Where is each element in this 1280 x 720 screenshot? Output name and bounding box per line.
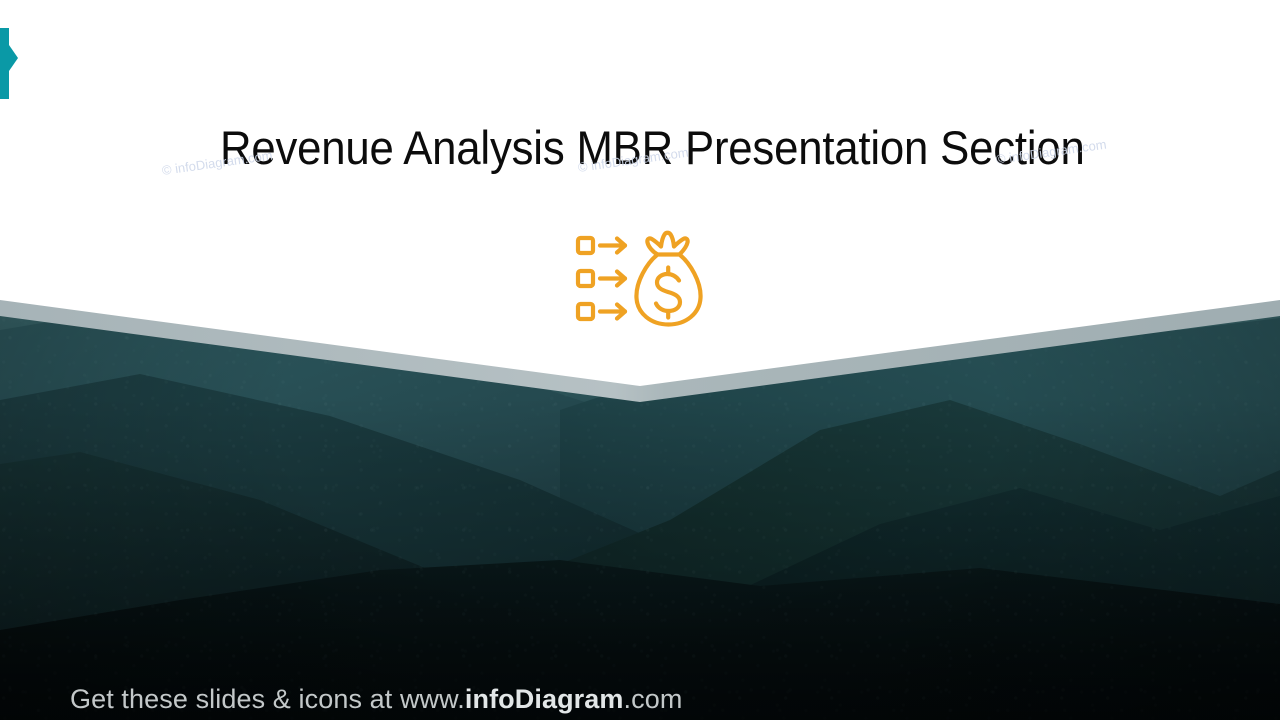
teal-accent-chevron-icon — [9, 45, 18, 71]
checkbox-square-icon — [578, 271, 593, 286]
checkbox-square-icon — [578, 304, 593, 319]
photo-vignette — [0, 0, 1280, 720]
dollar-sign-icon — [656, 274, 680, 311]
footer-credit: Get these slides & icons at www.infoDiag… — [70, 683, 682, 715]
presentation-slide: Revenue Analysis MBR Presentation Sectio… — [0, 0, 1280, 720]
footer-brand: infoDiagram — [465, 684, 624, 714]
teal-accent-bar — [0, 28, 9, 99]
footer-prefix: Get these slides & icons at www. — [70, 684, 465, 714]
revenue-money-bag-icon — [575, 230, 709, 328]
footer-suffix: .com — [624, 684, 683, 714]
checkbox-square-icon — [578, 238, 593, 253]
photo-canvas — [0, 0, 1280, 720]
money-bag-tie-icon — [647, 233, 687, 255]
mountain-photo-background — [0, 0, 1280, 720]
